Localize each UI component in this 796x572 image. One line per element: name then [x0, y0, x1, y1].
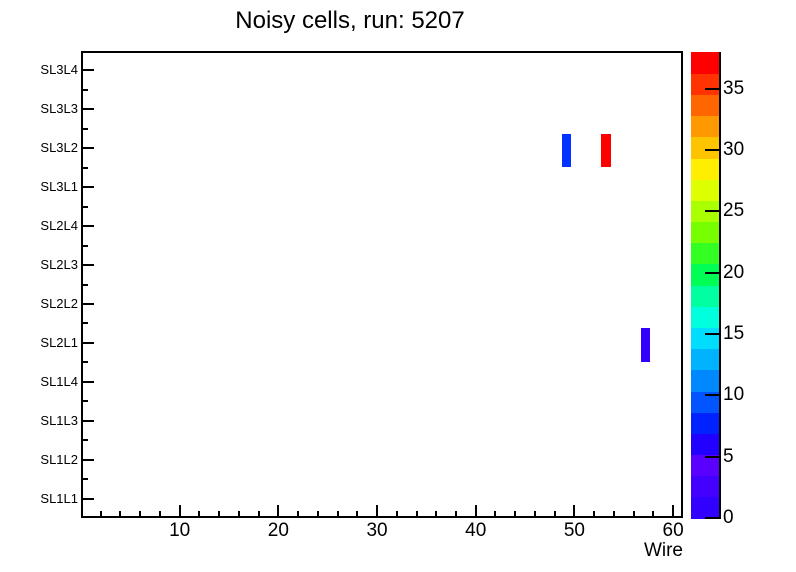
- y-axis-tick-label: SL1L4: [40, 374, 78, 389]
- y-axis-tick: [81, 342, 94, 344]
- colorbar-band: [691, 370, 719, 392]
- colorbar-tick-label: 35: [723, 78, 744, 100]
- x-axis-minor-tick: [435, 511, 437, 518]
- x-axis-minor-tick: [198, 511, 200, 518]
- x-axis-minor-tick: [218, 511, 220, 518]
- y-axis-tick: [81, 264, 94, 266]
- colorbar-band: [691, 264, 719, 286]
- y-axis-tick-label: SL3L1: [40, 179, 78, 194]
- x-axis-tick: [376, 505, 378, 518]
- x-axis-tick-label: 30: [366, 520, 387, 542]
- x-axis-minor-tick: [396, 511, 398, 518]
- colorbar-band: [691, 306, 719, 328]
- x-axis-minor-tick: [455, 511, 457, 518]
- heatmap-cell: [601, 134, 611, 167]
- y-axis-tick: [81, 498, 94, 500]
- x-axis-tick-label: 50: [564, 520, 585, 542]
- y-axis-tick-label: SL2L3: [40, 257, 78, 272]
- colorbar-tick: [705, 149, 721, 151]
- y-axis-tick-label: SL3L4: [40, 62, 78, 77]
- y-axis-tick: [81, 225, 94, 227]
- y-axis-tick-label: SL1L3: [40, 413, 78, 428]
- colorbar-tick-label: 15: [723, 323, 744, 345]
- colorbar-axis-line: [719, 52, 721, 518]
- x-axis-minor-tick: [534, 511, 536, 518]
- colorbar-band: [691, 349, 719, 371]
- colorbar-tick-label: 30: [723, 139, 744, 161]
- colorbar-tick-label: 10: [723, 384, 744, 406]
- x-axis-minor-tick: [297, 511, 299, 518]
- y-axis-minor-tick: [81, 245, 88, 247]
- x-axis-minor-tick: [139, 511, 141, 518]
- colorbar-tick: [705, 333, 721, 335]
- y-axis-tick: [81, 420, 94, 422]
- colorbar-band: [691, 73, 719, 95]
- colorbar-tick: [705, 272, 721, 274]
- y-axis-tick-label: SL2L4: [40, 218, 78, 233]
- colorbar-band: [691, 52, 719, 74]
- y-axis-tick-label: SL1L1: [40, 491, 78, 506]
- page-title: Noisy cells, run: 5207: [0, 7, 700, 35]
- colorbar-band: [691, 221, 719, 243]
- colorbar-band: [691, 137, 719, 159]
- x-axis-tick: [179, 505, 181, 518]
- x-axis-minor-tick: [554, 511, 556, 518]
- y-axis-tick-label: SL2L2: [40, 296, 78, 311]
- x-axis-minor-tick: [613, 511, 615, 518]
- x-axis-minor-tick: [652, 511, 654, 518]
- colorbar-band: [691, 412, 719, 434]
- x-axis-tick: [672, 505, 674, 518]
- colorbar-band: [691, 454, 719, 476]
- x-axis-minor-tick: [633, 511, 635, 518]
- y-axis-minor-tick: [81, 439, 88, 441]
- colorbar-band: [691, 433, 719, 455]
- colorbar-band: [691, 94, 719, 116]
- x-axis-minor-tick: [337, 511, 339, 518]
- y-axis-tick: [81, 381, 94, 383]
- y-axis-minor-tick: [81, 89, 88, 91]
- x-axis-minor-tick: [356, 511, 358, 518]
- x-axis-minor-tick: [100, 511, 102, 518]
- y-axis-tick: [81, 186, 94, 188]
- x-axis-minor-tick: [317, 511, 319, 518]
- x-axis-minor-tick: [238, 511, 240, 518]
- x-axis-tick-label: 60: [663, 520, 684, 542]
- x-axis-tick: [573, 505, 575, 518]
- colorbar-band: [691, 327, 719, 349]
- y-axis-tick: [81, 459, 94, 461]
- y-axis-tick: [81, 108, 94, 110]
- root-canvas: Noisy cells, run: 5207 SL1L1SL1L2SL1L3SL…: [0, 0, 796, 572]
- x-axis-minor-tick: [258, 511, 260, 518]
- colorbar-band: [691, 285, 719, 307]
- x-axis-minor-tick: [159, 511, 161, 518]
- x-axis-minor-tick: [494, 511, 496, 518]
- colorbar-tick-label: 0: [723, 507, 734, 529]
- y-axis-minor-tick: [81, 322, 88, 324]
- colorbar-band: [691, 476, 719, 498]
- y-axis-minor-tick: [81, 478, 88, 480]
- y-axis-tick: [81, 147, 94, 149]
- y-axis-minor-tick: [81, 206, 88, 208]
- colorbar-band: [691, 116, 719, 138]
- colorbar-tick: [705, 394, 721, 396]
- heatmap-cell: [562, 134, 572, 167]
- x-axis-tick-label: 10: [169, 520, 190, 542]
- y-axis-minor-tick: [81, 361, 88, 363]
- x-axis-minor-tick: [119, 511, 121, 518]
- y-axis-tick-label: SL2L1: [40, 335, 78, 350]
- y-axis-minor-tick: [81, 167, 88, 169]
- colorbar-band: [691, 497, 719, 519]
- x-axis-title: Wire: [644, 540, 683, 562]
- colorbar-tick: [705, 517, 721, 519]
- colorbar-tick: [705, 456, 721, 458]
- colorbar-tick-label: 20: [723, 262, 744, 284]
- x-axis-minor-tick: [593, 511, 595, 518]
- x-axis-minor-tick: [416, 511, 418, 518]
- colorbar-band: [691, 158, 719, 180]
- x-axis-minor-tick: [514, 511, 516, 518]
- x-axis-tick: [277, 505, 279, 518]
- colorbar-tick-label: 25: [723, 200, 744, 222]
- colorbar: [691, 52, 719, 518]
- x-axis-tick: [475, 505, 477, 518]
- plot-frame: [81, 51, 683, 518]
- colorbar-band: [691, 179, 719, 201]
- y-axis-tick: [81, 303, 94, 305]
- colorbar-tick-label: 5: [723, 446, 734, 468]
- y-axis-minor-tick: [81, 284, 88, 286]
- colorbar-tick: [705, 88, 721, 90]
- y-axis-tick-label: SL3L2: [40, 140, 78, 155]
- y-axis-minor-tick: [81, 128, 88, 130]
- plot-area: [83, 53, 681, 516]
- y-axis-minor-tick: [81, 400, 88, 402]
- y-axis-tick-label: SL1L2: [40, 452, 78, 467]
- x-axis-tick-label: 20: [268, 520, 289, 542]
- colorbar-tick: [705, 210, 721, 212]
- y-axis-tick: [81, 69, 94, 71]
- x-axis-tick-label: 40: [465, 520, 486, 542]
- heatmap-cell: [641, 328, 651, 361]
- colorbar-band: [691, 243, 719, 265]
- y-axis-tick-label: SL3L3: [40, 101, 78, 116]
